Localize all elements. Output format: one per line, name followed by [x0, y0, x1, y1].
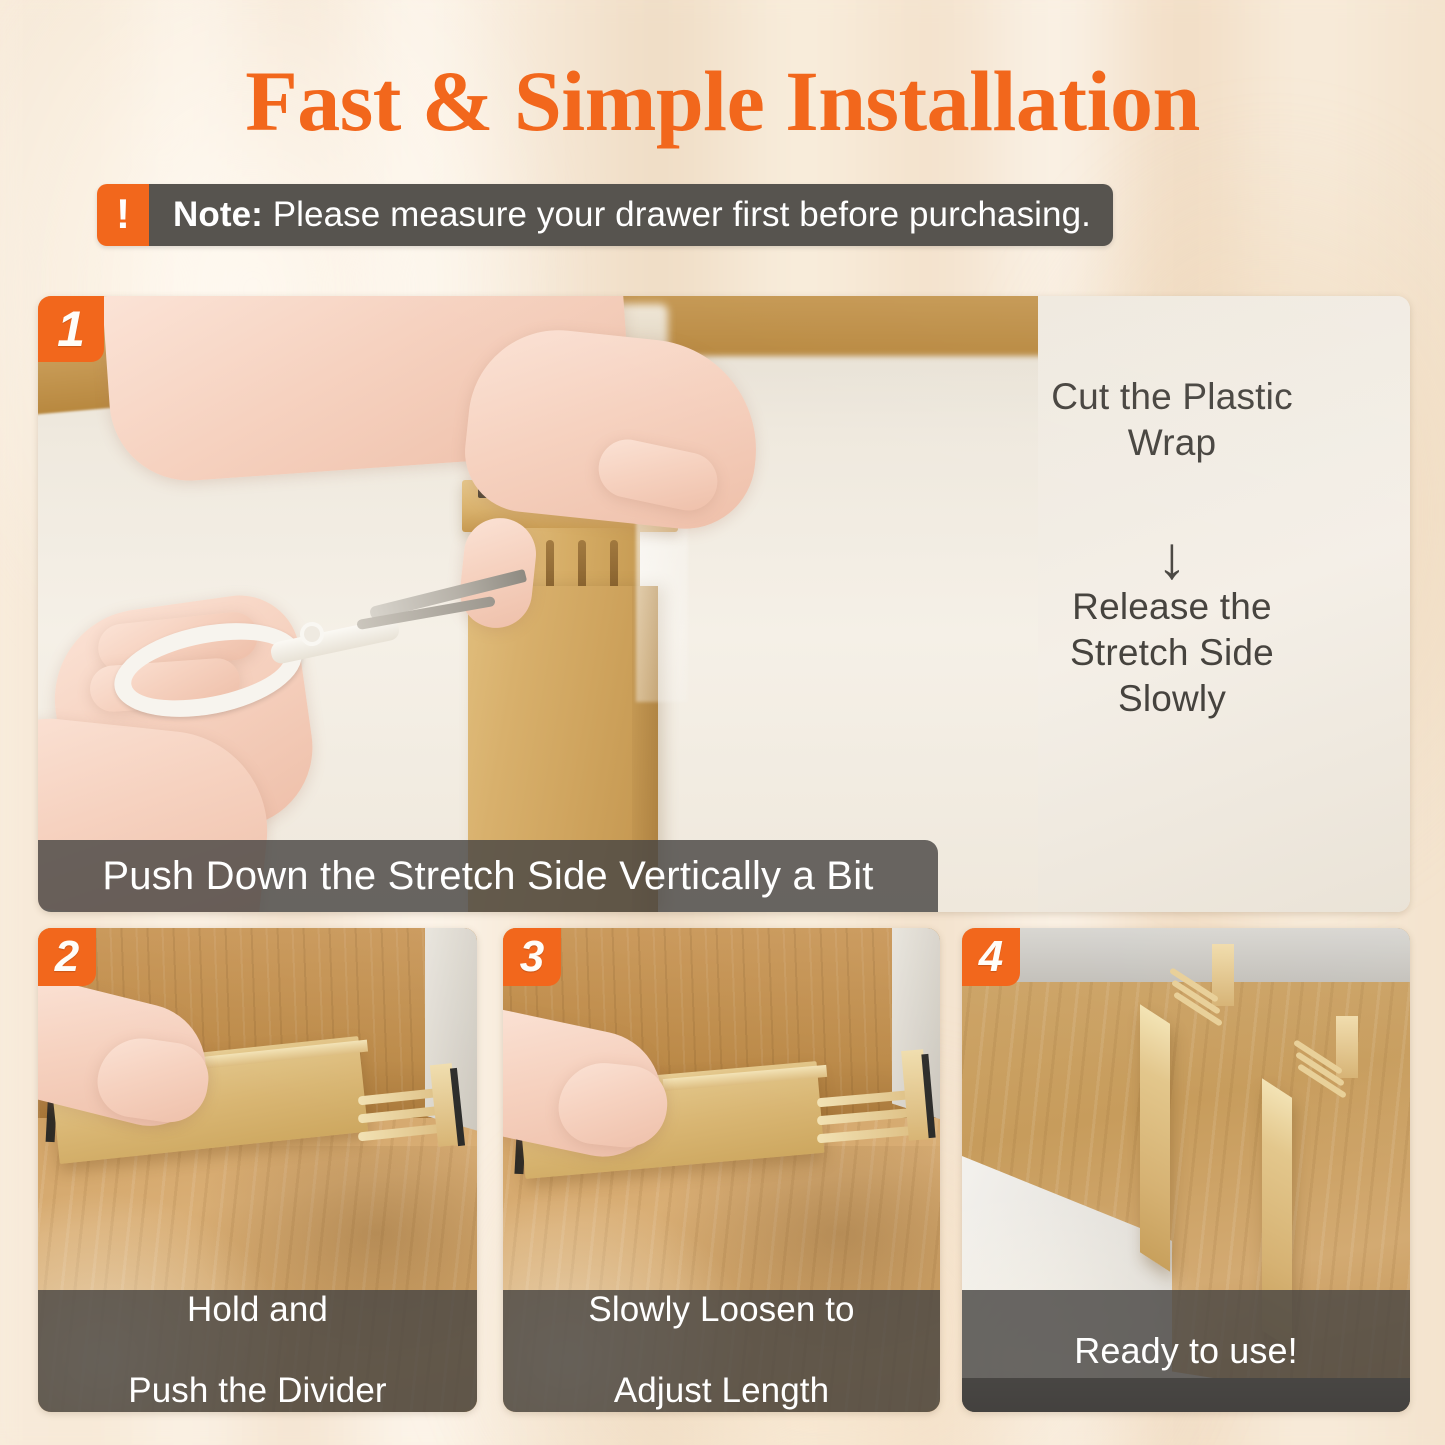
- wall-background-4: [962, 928, 1410, 982]
- step-4-caption: Ready to use!: [962, 1290, 1410, 1412]
- step-3-caption-text: Slowly Loosen to Adjust Length: [588, 1290, 854, 1412]
- instruction-line-4: Stretch Side: [1070, 632, 1274, 673]
- infographic-page: Fast & Simple Installation ! Note: Pleas…: [0, 0, 1445, 1445]
- exclamation-icon: !: [97, 184, 149, 246]
- note-bar: ! Note: Please measure your drawer first…: [97, 184, 1113, 246]
- note-label: Note:: [173, 195, 263, 235]
- step-1-badge: 1: [38, 296, 104, 362]
- step-3-caption: Slowly Loosen to Adjust Length: [503, 1290, 940, 1412]
- instruction-line-5: Slowly: [1118, 678, 1226, 719]
- step-2-caption-text: Hold and Push the Divider: [128, 1290, 386, 1412]
- note-text: Note: Please measure your drawer first b…: [149, 184, 1113, 246]
- step-1-caption-text: Push Down the Stretch Side Vertically a …: [102, 853, 873, 899]
- step-2-caption-line-1: Hold and: [128, 1290, 386, 1331]
- instruction-block-2: Release the Stretch Side Slowly: [1038, 584, 1306, 722]
- step-4-badge: 4: [962, 928, 1020, 986]
- step-4-panel: 4 Ready to use!: [962, 928, 1410, 1412]
- step-4-caption-text: Ready to use!: [1074, 1330, 1297, 1372]
- step-1-caption: Push Down the Stretch Side Vertically a …: [38, 840, 938, 912]
- step-1-instructions-area: Cut the Plastic Wrap Release the Stretch…: [1038, 296, 1410, 912]
- step-1-panel: Cut the Plastic Wrap Release the Stretch…: [38, 296, 1410, 912]
- step-3-panel: 3 Slowly Loosen to Adjust Length: [503, 928, 940, 1412]
- step-1-photo: [38, 296, 1038, 912]
- step-3-badge: 3: [503, 928, 561, 986]
- divider-plank-back-4: [1140, 1004, 1170, 1271]
- step-2-caption: Hold and Push the Divider: [38, 1290, 477, 1412]
- step-2-caption-line-2: Push the Divider: [128, 1371, 386, 1412]
- note-message: Please measure your drawer first before …: [273, 195, 1091, 235]
- step-2-panel: 2 Hold and Push the Divider: [38, 928, 477, 1412]
- instruction-line-3: Release the: [1072, 586, 1272, 627]
- step-3-caption-line-2: Adjust Length: [588, 1371, 854, 1412]
- down-arrow-icon: ↓: [1038, 528, 1306, 588]
- page-title: Fast & Simple Installation: [0, 58, 1445, 144]
- instruction-line-1: Cut the: [1051, 376, 1172, 417]
- step-2-badge: 2: [38, 928, 96, 986]
- step-3-caption-line-1: Slowly Loosen to: [588, 1290, 854, 1331]
